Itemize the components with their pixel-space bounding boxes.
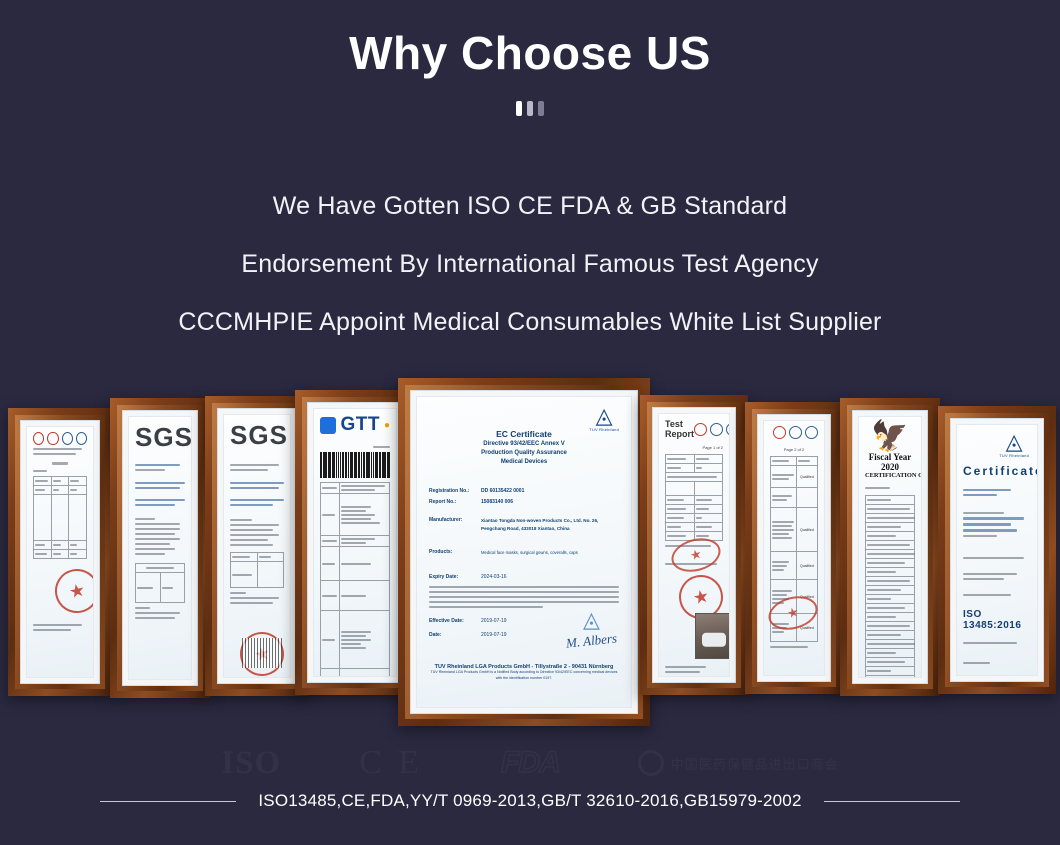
text-line [230,464,279,466]
text-line [135,504,175,506]
text-line [33,448,82,450]
fda-fiscal-year: Fiscal Year 2020 [865,452,915,472]
barcode-icon [320,452,390,478]
text-line [429,601,619,603]
frame-bevel: Page 2 of 2 Qualified Qualified Qualifie… [752,409,836,687]
text-line [963,594,1011,596]
why-choose-us-section: Why Choose US We Have Gotten ISO CE FDA … [0,0,1060,845]
certificate-paper: GTT ● [313,408,397,677]
certificate-gallery: ★ SGS [0,0,1060,760]
text-line [963,523,1011,526]
gtt-mark-icon [320,417,336,434]
text-line [230,524,279,526]
ec-registration-no: Registration No.: DD 60135422 0001 [429,488,619,494]
text-line [429,586,619,588]
certificate-ec[interactable]: ◬ TUV Rheinland EC Certificate Directive… [398,378,650,726]
text-line [230,602,273,604]
text-line [230,592,246,594]
frame-mat: GTT ● [307,402,403,683]
text-line [963,535,997,537]
accreditation-logo-strip: ISO C E FDA 中国医药保健品进出口商会 [0,735,1060,791]
frame-mat: ★ [20,420,100,684]
tuv-triangle-icon: ◬ [589,405,619,427]
ec-products: Products: Medical face masks, surgical g… [429,549,619,557]
ilac-mark-icon [76,432,87,445]
ec-subtitle-3: Medical Devices [429,458,619,467]
cccmhpie-logo: 中国医药保健品进出口商会 [638,750,839,776]
iso-logo: ISO [221,745,281,782]
text-line [135,548,175,550]
certificate-paper: SGS [128,416,192,680]
tuv-rheinland-logo: ◬ TUV Rheinland [589,405,619,432]
certificate-test-report-2[interactable]: Page 2 of 2 Qualified Qualified Qualifie… [745,402,843,694]
eagle-emblem-icon: 🦅 [865,422,915,452]
gtt-logo: GTT ● [320,414,390,436]
sgs-logo: SGS [230,420,284,451]
inspection-table [320,482,390,677]
fda-registration-title: CERTIFICATION OF REGISTRATION [865,472,915,479]
text-line [963,512,1004,514]
text-line [230,519,252,521]
standards-footer: ISO13485,CE,FDA,YY/T 0969-2013,GB/T 3261… [0,791,1060,811]
device-name-table [865,495,915,678]
ilac-mark-icon [726,423,730,436]
certificate-cnas-inspection[interactable]: ★ [8,408,112,696]
text-line [665,671,700,673]
certificate-paper: Test Report Page 1 of 2 [658,413,730,677]
frame-mat: SGS [217,408,297,684]
page-label: Page 2 of 2 [770,447,818,452]
text-line [135,518,155,520]
certificate-paper: 🦅 Fiscal Year 2020 CERTIFICATION OF REGI… [858,416,922,678]
cnas-mark-icon [789,426,802,439]
tuv-rheinland-logo: ◬ TUV Rheinland [999,431,1029,458]
certificate-paper: ◬ TUV Rheinland Certificate [956,424,1038,676]
cma-mark-icon [694,423,707,436]
accreditation-marks-icon [694,423,730,436]
text-line [963,662,990,664]
text-line [963,578,1004,580]
text-line [230,487,279,489]
certificate-paper: Page 2 of 2 Qualified Qualified Qualifie… [763,420,825,676]
cma-mark-icon [47,432,58,445]
frame-mat: ◬ TUV Rheinland EC Certificate Directive… [410,390,638,714]
text-line [52,462,68,465]
text-line [963,573,1017,575]
text-line [135,617,175,619]
gtt-registered-icon: ● [384,420,390,431]
frame-bevel: GTT ● [302,397,408,688]
mask-product-photo [695,613,730,659]
standards-list: ISO13485,CE,FDA,YY/T 0969-2013,GB/T 3261… [258,791,801,811]
text-line [963,557,1024,559]
text-line [230,482,284,484]
notified-body-seal: ◬ M. Albers [566,607,617,649]
ec-manufacturer: Manufacturer: Xiantao Tongda Non-woven P… [429,517,619,533]
ilac-mark-icon [805,426,818,439]
text-line [135,543,170,545]
text-line [230,499,284,501]
text-line [865,487,890,489]
text-line [373,446,391,448]
cccmhpie-label: 中国医药保健品进出口商会 [671,754,839,773]
footer-rule-left [100,801,236,802]
ec-subtitle-1: Directive 93/42/EEC Annex V [429,440,619,449]
text-line [963,489,1011,491]
frame-mat: 🦅 Fiscal Year 2020 CERTIFICATION OF REGI… [852,410,928,684]
text-line [135,607,150,609]
text-line [429,591,619,593]
iso-certificate-title: Certificate [963,464,1031,478]
cnas-mark-icon [33,432,44,445]
text-line [230,544,273,546]
text-line [770,646,808,648]
globe-icon [638,750,664,776]
text-line [135,487,180,489]
certificate-fda-registration[interactable]: 🦅 Fiscal Year 2020 CERTIFICATION OF REGI… [840,398,940,696]
text-line [963,642,1017,644]
certificate-test-report-1[interactable]: Test Report Page 1 of 2 [640,395,748,695]
text-line [135,533,175,535]
frame-mat: Page 2 of 2 Qualified Qualified Qualifie… [757,414,831,682]
certificate-paper: ◬ TUV Rheinland EC Certificate Directive… [416,396,632,708]
frame-bevel: SGS [212,403,302,689]
ec-subtitle-2: Production Quality Assurance [429,449,619,458]
text-line [135,464,180,466]
ec-footer: TUV Rheinland LGA Products GmbH - Tillys… [429,664,619,681]
tuv-triangle-icon: ◬ [999,431,1029,453]
text-line [230,469,268,471]
text-line [33,470,47,472]
text-line [135,499,185,501]
text-line [135,528,180,530]
result-table [33,476,87,559]
certificate-sgs-1[interactable]: SGS [110,398,210,698]
frame-mat: SGS [122,410,198,686]
text-line [963,517,1024,520]
text-line [963,494,997,496]
text-line [230,504,273,506]
text-line [665,666,706,668]
qr-barcode-icon [242,638,282,668]
certificate-paper: ★ [26,426,94,678]
cma-mark-icon [773,426,786,439]
text-line [230,529,273,531]
text-line [33,629,71,631]
frame-bevel: Test Report Page 1 of 2 [647,402,741,688]
text-line [135,612,180,614]
page-label: Page 1 of 2 [665,445,723,450]
accreditation-marks-icon [33,432,87,445]
text-line [230,539,268,541]
frame-bevel: 🦅 Fiscal Year 2020 CERTIFICATION OF REGI… [847,405,933,689]
text-line [33,624,82,626]
sgs-logo: SGS [135,422,185,453]
signature-icon: M. Albers [565,630,617,651]
ec-expiry-date: Expiry Date: 2024-03-16 [429,574,619,580]
text-line [135,482,185,484]
text-line [135,538,180,540]
ec-report-no: Report No.: 15083140 006 [429,499,619,505]
cal-mark-icon [62,432,73,445]
text-line [429,606,543,608]
certificate-paper: SGS [223,414,291,678]
text-line [135,523,180,525]
footer-rule-right [824,801,960,802]
ce-logo: C E [359,744,423,782]
accreditation-marks-icon [770,426,818,439]
certificate-sgs-2[interactable]: SGS [205,396,309,696]
text-line [429,596,619,598]
text-line [135,553,165,555]
iso-standard-label: ISO 13485:2016 [963,609,1031,631]
frame-mat: Test Report Page 1 of 2 [652,407,736,683]
text-line [230,534,279,536]
text-line [230,597,279,599]
frame-bevel: ◬ TUV Rheinland Certificate [945,413,1049,687]
text-line [135,469,165,471]
result-table [665,454,723,541]
certificate-iso-13485[interactable]: ◬ TUV Rheinland Certificate [938,406,1056,694]
frame-bevel: ★ [15,415,105,689]
official-stamp-icon: ★ [51,565,94,617]
frame-bevel: SGS [117,405,203,691]
text-line [963,529,1017,532]
frame-bevel: ◬ TUV Rheinland EC Certificate Directive… [405,385,643,719]
certificate-gtt[interactable]: GTT ● [295,390,415,695]
text-line [33,453,76,455]
tuv-seal-icon: ◬ [566,607,617,633]
result-table [135,563,185,603]
fda-logo: FDA [501,746,560,780]
frame-mat: ◬ TUV Rheinland Certificate [950,418,1044,682]
cnas-mark-icon [710,423,723,436]
test-report-title: Test Report [665,419,694,439]
result-table [230,552,284,588]
